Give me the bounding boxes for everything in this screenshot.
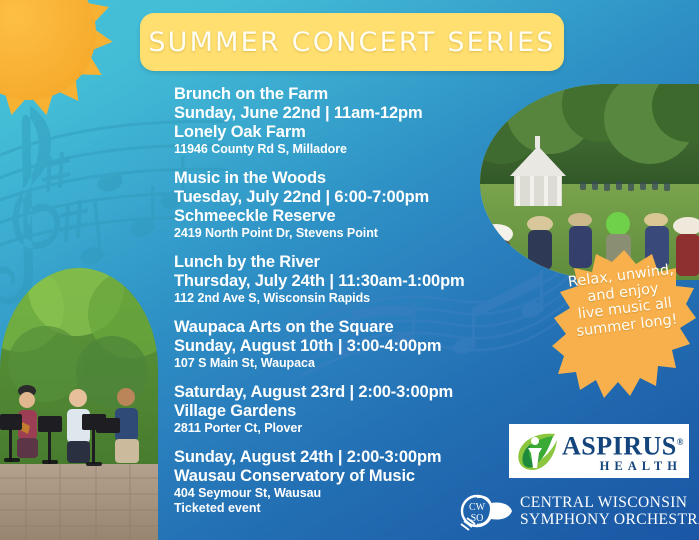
french-horn-icon: CW SO xyxy=(458,489,514,533)
event-list: Brunch on the Farm Sunday, June 22nd | 1… xyxy=(174,85,514,516)
event-datetime: Sunday, August 24th | 2:00-3:00pm xyxy=(174,448,514,467)
event-datetime: Sunday, June 22nd | 11am-12pm xyxy=(174,104,514,123)
aspirus-subname: HEALTH xyxy=(562,459,684,473)
event-address: 2419 North Point Dr, Stevens Point xyxy=(174,226,514,241)
svg-text:SO: SO xyxy=(471,513,484,524)
event-datetime: Sunday, August 10th | 3:00-4:00pm xyxy=(174,337,514,356)
aspirus-health-logo: ASPIRUS® HEALTH xyxy=(509,424,689,478)
event-title: Lunch by the River xyxy=(174,253,514,272)
aspirus-leaf-icon xyxy=(515,430,559,472)
event-address: 2811 Porter Ct, Plover xyxy=(174,421,514,436)
event-title: Brunch on the Farm xyxy=(174,85,514,104)
event-venue: Schmeeckle Reserve xyxy=(174,207,514,226)
event-item: Saturday, August 23rd | 2:00-3:00pm Vill… xyxy=(174,383,514,436)
aspirus-name: ASPIRUS® xyxy=(562,429,684,460)
sun-decoration xyxy=(0,0,124,128)
cwso-line-1: CENTRAL WISCONSIN xyxy=(520,494,699,511)
event-item: Brunch on the Farm Sunday, June 22nd | 1… xyxy=(174,85,514,157)
event-venue: Wausau Conservatory of Music xyxy=(174,467,514,486)
event-title: Music in the Woods xyxy=(174,169,514,188)
musicians-patio-photo xyxy=(0,268,158,540)
poster-title-banner: SUMMER CONCERT SERIES xyxy=(140,13,564,71)
poster-title: SUMMER CONCERT SERIES xyxy=(148,27,555,58)
event-title: Waupaca Arts on the Square xyxy=(174,318,514,337)
cwso-logo: CW SO CENTRAL WISCONSIN SYMPHONY ORCHEST… xyxy=(458,487,694,535)
event-venue: Lonely Oak Farm xyxy=(174,123,514,142)
event-address: 112 2nd Ave S, Wisconsin Rapids xyxy=(174,291,514,306)
event-item: Music in the Woods Tuesday, July 22nd | … xyxy=(174,169,514,241)
event-datetime: Tuesday, July 22nd | 6:00-7:00pm xyxy=(174,188,514,207)
event-datetime: Saturday, August 23rd | 2:00-3:00pm xyxy=(174,383,514,402)
event-item: Waupaca Arts on the Square Sunday, Augus… xyxy=(174,318,514,371)
event-address: 11946 County Rd S, Milladore xyxy=(174,142,514,157)
svg-text:CW: CW xyxy=(469,502,486,513)
cwso-line-2: SYMPHONY ORCHESTRA xyxy=(520,511,699,528)
cwso-wordmark: CENTRAL WISCONSIN SYMPHONY ORCHESTRA xyxy=(520,494,699,528)
event-item: Lunch by the River Thursday, July 24th |… xyxy=(174,253,514,306)
summer-concert-series-poster: SUMMER CONCERT SERIES xyxy=(0,0,699,540)
sun-disc-icon xyxy=(0,0,96,100)
event-address: 107 S Main St, Waupaca xyxy=(174,356,514,371)
event-venue: Village Gardens xyxy=(174,402,514,421)
aspirus-wordmark: ASPIRUS® HEALTH xyxy=(562,429,684,474)
event-datetime: Thursday, July 24th | 11:30am-1:00pm xyxy=(174,272,514,291)
